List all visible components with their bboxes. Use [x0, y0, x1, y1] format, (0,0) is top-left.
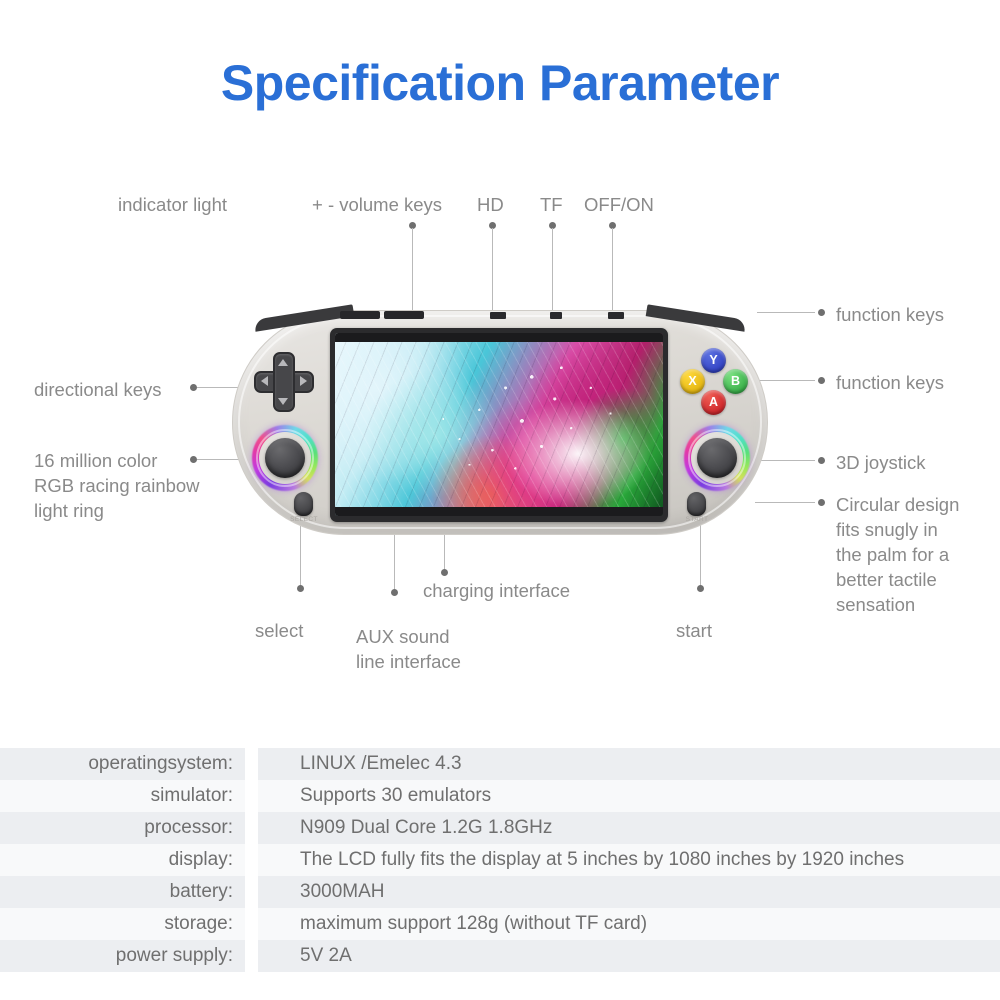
right-joystick-cap[interactable] — [697, 438, 737, 478]
leader-dot-function-keys-bottom — [818, 377, 825, 384]
spec-column-gap — [245, 940, 258, 972]
callout-tf: TF — [540, 192, 563, 217]
directional-pad[interactable] — [254, 352, 314, 412]
spec-column-gap — [245, 844, 258, 876]
leader-dot-circular-design — [818, 499, 825, 506]
hd-port — [490, 312, 506, 319]
spec-row: operatingsystem:LINUX /Emelec 4.3 — [0, 748, 1000, 780]
spec-key: operatingsystem: — [0, 748, 245, 780]
start-button[interactable]: START — [687, 492, 706, 516]
select-button-label: SELECT — [282, 516, 326, 523]
volume-down-key[interactable] — [384, 311, 424, 319]
spec-row: display:The LCD fully fits the display a… — [0, 844, 1000, 876]
spec-value: maximum support 128g (without TF card) — [258, 908, 1000, 940]
tf-card-slot — [550, 312, 562, 319]
spec-value: LINUX /Emelec 4.3 — [258, 748, 1000, 780]
right-joystick[interactable] — [684, 425, 750, 491]
dpad-right-arrow-icon — [300, 376, 307, 386]
callout-function-keys-bottom: function keys — [836, 370, 944, 395]
spec-row: storage:maximum support 128g (without TF… — [0, 908, 1000, 940]
callout-volume-keys: + - volume keys — [312, 192, 442, 217]
left-joystick[interactable] — [252, 425, 318, 491]
face-button-cluster: Y X B A — [680, 348, 748, 416]
screen-letterbox-bottom — [335, 507, 663, 516]
start-button-cap — [687, 492, 706, 516]
leader-dot-3d-joystick — [818, 457, 825, 464]
face-button-x[interactable]: X — [680, 369, 705, 394]
spec-row: power supply:5V 2A — [0, 940, 1000, 972]
lcd-screen — [335, 333, 663, 516]
callout-select: select — [255, 618, 303, 643]
spec-value: 3000MAH — [258, 876, 1000, 908]
product-diagram: indicator light + - volume keys HD TF OF… — [0, 0, 1000, 745]
callout-start: start — [676, 618, 712, 643]
leader-dot-aux — [391, 589, 398, 596]
screen-glare — [335, 333, 663, 516]
leader-dot-select — [297, 585, 304, 592]
spec-column-gap — [245, 748, 258, 780]
dpad-left-arrow-icon — [261, 376, 268, 386]
callout-off-on: OFF/ON — [584, 192, 654, 217]
leader-line-volume-keys — [412, 228, 413, 310]
power-switch[interactable] — [608, 312, 624, 319]
spec-value: 5V 2A — [258, 940, 1000, 972]
leader-dot-charging — [441, 569, 448, 576]
spec-row: processor:N909 Dual Core 1.2G 1.8GHz — [0, 812, 1000, 844]
leader-line-hd — [492, 228, 493, 316]
spec-key: simulator: — [0, 780, 245, 812]
callout-indicator-light: indicator light — [118, 192, 227, 217]
spec-value: Supports 30 emulators — [258, 780, 1000, 812]
callout-function-keys-top: function keys — [836, 302, 944, 327]
spec-key: processor: — [0, 812, 245, 844]
leader-dot-start — [697, 585, 704, 592]
volume-up-key[interactable] — [340, 311, 380, 319]
leader-dot-directional-keys — [190, 384, 197, 391]
leader-line-tf — [552, 228, 553, 316]
face-button-y[interactable]: Y — [701, 348, 726, 373]
spec-key: display: — [0, 844, 245, 876]
spec-column-gap — [245, 780, 258, 812]
select-button-cap — [294, 492, 313, 516]
spec-column-gap — [245, 876, 258, 908]
dpad-up-arrow-icon — [278, 359, 288, 366]
spec-column-gap — [245, 812, 258, 844]
spec-key: storage: — [0, 908, 245, 940]
callout-3d-joystick: 3D joystick — [836, 450, 925, 475]
start-button-label: START — [675, 516, 719, 523]
face-button-b[interactable]: B — [723, 369, 748, 394]
leader-dot-rgb-light-ring — [190, 456, 197, 463]
leader-dot-function-keys-top — [818, 309, 825, 316]
callout-aux-interface: AUX sound line interface — [356, 624, 461, 674]
handheld-console: Y X B A SELECT START — [232, 310, 768, 535]
spec-value: N909 Dual Core 1.2G 1.8GHz — [258, 812, 1000, 844]
lcd-screen-frame — [330, 328, 668, 522]
left-joystick-cap[interactable] — [265, 438, 305, 478]
spec-row: simulator:Supports 30 emulators — [0, 780, 1000, 812]
face-button-a[interactable]: A — [701, 390, 726, 415]
select-button[interactable]: SELECT — [294, 492, 313, 516]
screen-letterbox-top — [335, 333, 663, 342]
specification-table: operatingsystem:LINUX /Emelec 4.3simulat… — [0, 748, 1000, 972]
spec-row: battery:3000MAH — [0, 876, 1000, 908]
callout-directional-keys: directional keys — [34, 377, 162, 402]
spec-column-gap — [245, 908, 258, 940]
spec-value: The LCD fully fits the display at 5 inch… — [258, 844, 1000, 876]
callout-circular-design: Circular design fits snugly in the palm … — [836, 492, 996, 617]
spec-key: battery: — [0, 876, 245, 908]
spec-key: power supply: — [0, 940, 245, 972]
callout-hd: HD — [477, 192, 504, 217]
callout-charging-interface: charging interface — [423, 578, 570, 603]
top-edge-hardware — [340, 311, 660, 320]
leader-line-off-on — [612, 228, 613, 310]
dpad-down-arrow-icon — [278, 398, 288, 405]
